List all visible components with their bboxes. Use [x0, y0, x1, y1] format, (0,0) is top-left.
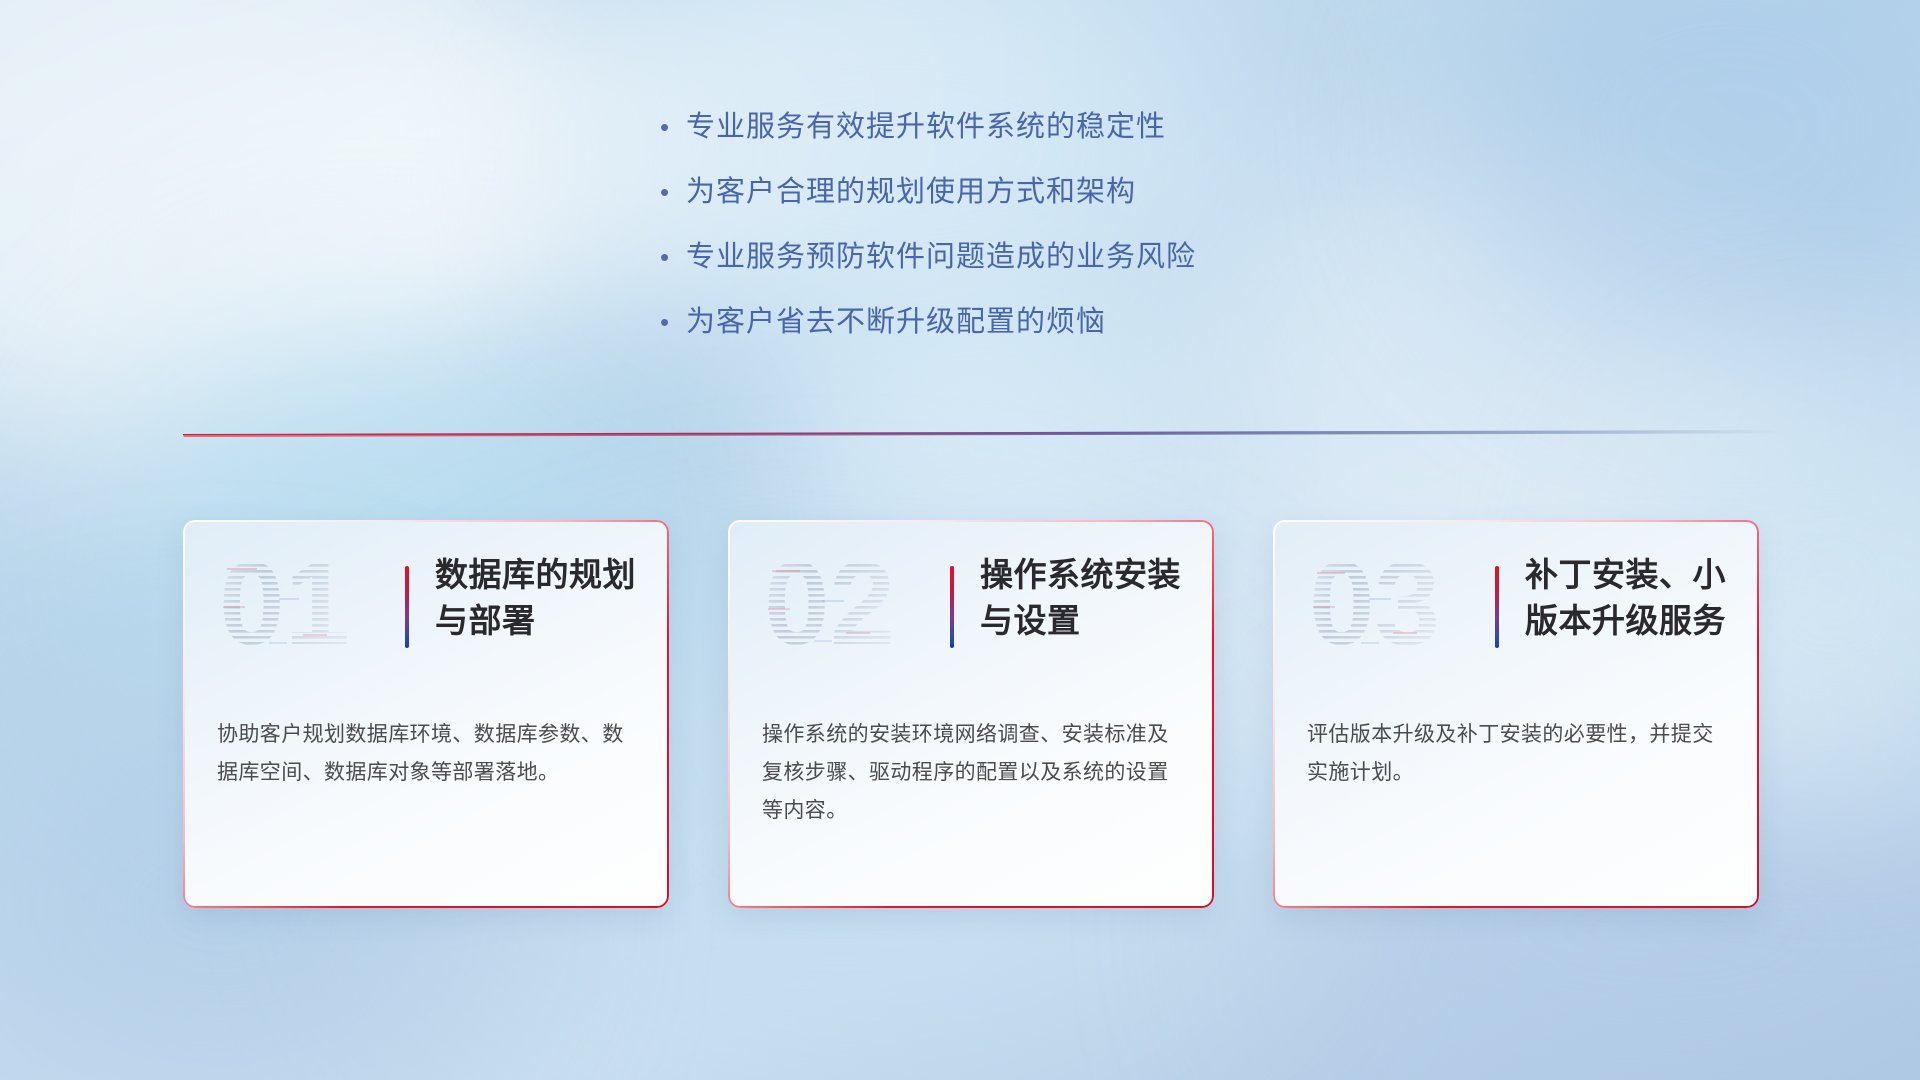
- card-number-watermark: 02: [762, 546, 912, 666]
- card-surface: 03 补丁安装、小 版本升级服务 评估版本升级及补丁安装的必要性，并提交实施计划…: [1273, 520, 1759, 908]
- info-card[interactable]: 03 补丁安装、小 版本升级服务 评估版本升级及补丁安装的必要性，并提交实施计划…: [1273, 520, 1759, 908]
- card-number-text: 02: [764, 546, 895, 666]
- bullet-dot-icon: •: [660, 173, 686, 211]
- card-surface: 01 数据库的规划 与部署 协助客户规划数据库环境、数据库参数、数据库空间、数据…: [183, 520, 669, 908]
- card-body-text: 协助客户规划数据库环境、数据库参数、数据库空间、数据库对象等部署落地。: [217, 716, 635, 792]
- card-accent-bar: [950, 566, 954, 648]
- section-divider: [183, 430, 1783, 446]
- bullet-list: • 专业服务有效提升软件系统的稳定性 • 为客户合理的规划使用方式和架构 • 专…: [660, 108, 1196, 368]
- card-body-text: 操作系统的安装环境网络调查、安装标准及复核步骤、驱动程序的配置以及系统的设置等内…: [762, 716, 1180, 830]
- card-accent-bar: [1495, 566, 1499, 648]
- card-title-line2: 与设置: [980, 598, 1200, 644]
- card-accent-bar: [405, 566, 409, 648]
- bullet-text: 为客户省去不断升级配置的烦恼: [686, 303, 1106, 341]
- card-title-line1: 数据库的规划: [435, 552, 655, 598]
- list-item: • 为客户合理的规划使用方式和架构: [660, 173, 1196, 211]
- info-card[interactable]: 02 操作系统安装 与设置 操作系统的安装环境网络调查、安装标准及复核步骤、驱动…: [728, 520, 1214, 908]
- card-row: 01 数据库的规划 与部署 协助客户规划数据库环境、数据库参数、数据库空间、数据…: [0, 520, 1920, 940]
- bullet-text: 专业服务有效提升软件系统的稳定性: [686, 108, 1166, 146]
- bullet-dot-icon: •: [660, 303, 686, 341]
- card-surface: 02 操作系统安装 与设置 操作系统的安装环境网络调查、安装标准及复核步骤、驱动…: [728, 520, 1214, 908]
- card-title-line2: 版本升级服务: [1525, 598, 1745, 644]
- info-card[interactable]: 01 数据库的规划 与部署 协助客户规划数据库环境、数据库参数、数据库空间、数据…: [183, 520, 669, 908]
- card-body-text: 评估版本升级及补丁安装的必要性，并提交实施计划。: [1307, 716, 1725, 792]
- card-number-watermark: 01: [217, 546, 367, 666]
- list-item: • 专业服务有效提升软件系统的稳定性: [660, 108, 1196, 146]
- card-title-line1: 操作系统安装: [980, 552, 1200, 598]
- bullet-text: 专业服务预防软件问题造成的业务风险: [686, 238, 1196, 276]
- bullet-dot-icon: •: [660, 108, 686, 146]
- list-item: • 为客户省去不断升级配置的烦恼: [660, 303, 1196, 341]
- bullet-dot-icon: •: [660, 238, 686, 276]
- card-title-line2: 与部署: [435, 598, 655, 644]
- card-title: 补丁安装、小 版本升级服务: [1525, 552, 1745, 644]
- card-title: 操作系统安装 与设置: [980, 552, 1200, 644]
- list-item: • 专业服务预防软件问题造成的业务风险: [660, 238, 1196, 276]
- card-title: 数据库的规划 与部署: [435, 552, 655, 644]
- card-title-line1: 补丁安装、小: [1525, 552, 1745, 598]
- bullet-text: 为客户合理的规划使用方式和架构: [686, 173, 1136, 211]
- card-number-watermark: 03: [1307, 546, 1457, 666]
